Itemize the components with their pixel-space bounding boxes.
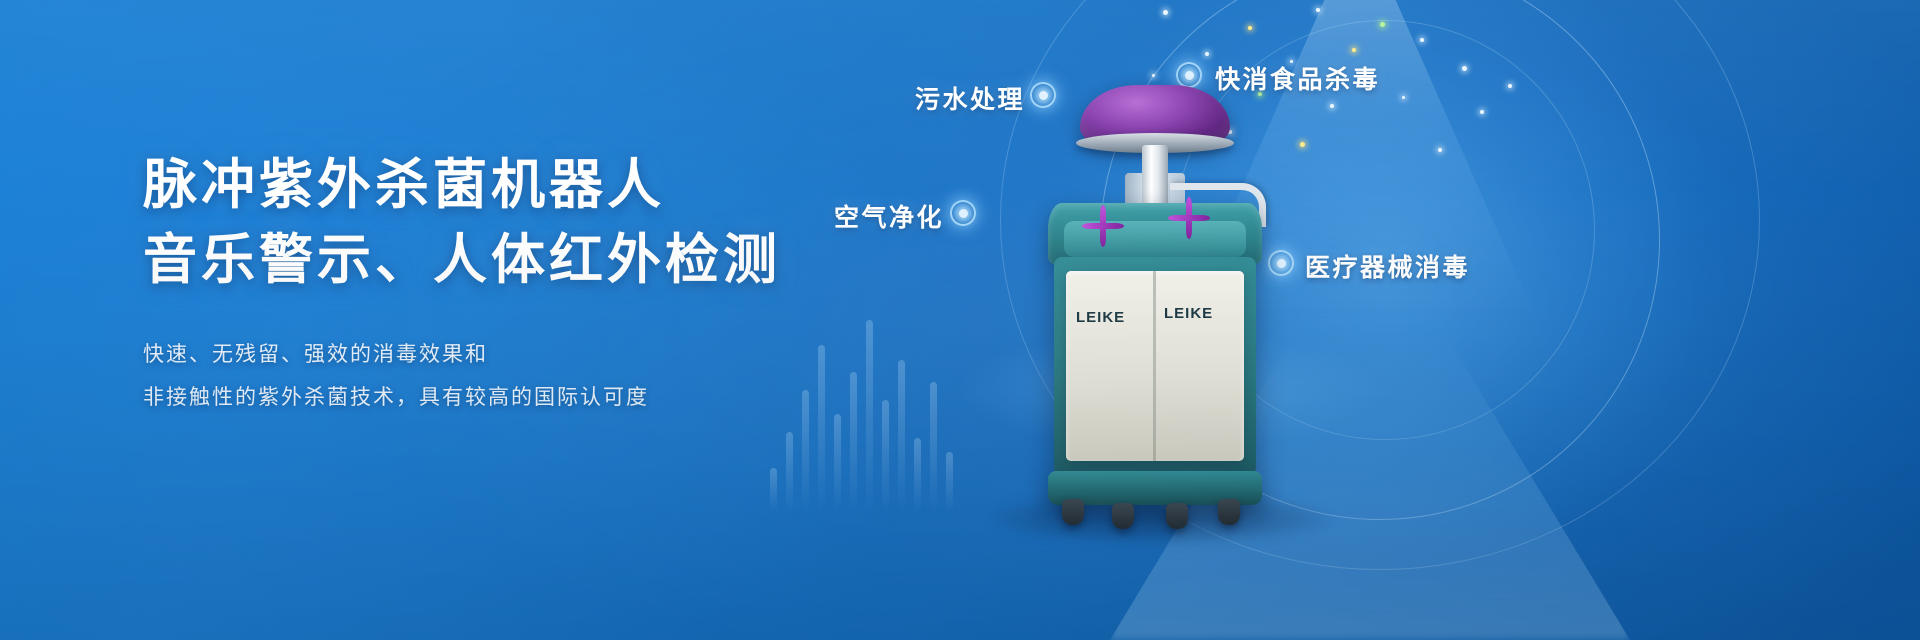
robot-panel-divider [1153,271,1156,461]
sparkle-particle [1205,52,1209,56]
feature-node-air-purification-icon[interactable] [950,200,976,226]
feature-label-wastewater-treatment: 污水处理 [915,80,1025,116]
sparkle-particle [1438,148,1442,152]
brand-logo-right: LEIKE [1164,305,1213,322]
sparkle-particle [1402,96,1405,99]
sparkle-particle [1316,8,1320,12]
sparkle-particle [1330,104,1334,108]
feature-label-air-purification: 空气净化 [834,198,944,234]
promo-banner: 脉冲紫外杀菌机器人 音乐警示、人体红外检测 快速、无残留、强效的消毒效果和 非接… [0,0,1920,640]
uv-disinfection-robot-illustration: LEIKE LEIKE [1020,85,1290,505]
sparkle-particle [1420,38,1424,42]
sparkle-particle [1300,142,1305,147]
sparkle-particle [1380,22,1385,27]
sparkle-particle [1352,48,1356,52]
headline-secondary: 音乐警示、人体红外检测 [143,225,863,296]
uv-lamp-tube [1142,145,1168,211]
banner-description: 快速、无残留、强效的消毒效果和 非接触性的紫外杀菌技术，具有较高的国际认可度 [143,333,863,419]
sparkle-star-left-icon [1082,205,1124,247]
sparkle-particle [1152,74,1155,77]
sparkle-particle [1508,84,1512,88]
feature-label-medical-device-disinfection: 医疗器械消毒 [1305,248,1470,284]
description-line-1: 快速、无残留、强效的消毒效果和 [143,333,863,376]
banner-copy-block: 脉冲紫外杀菌机器人 音乐警示、人体红外检测 快速、无残留、强效的消毒效果和 非接… [143,150,863,419]
caster-wheel [1166,503,1188,529]
brand-logo-left: LEIKE [1076,309,1125,326]
caster-wheel [1062,499,1084,525]
headline-primary: 脉冲紫外杀菌机器人 [143,150,863,221]
sparkle-star-right-icon [1168,197,1210,239]
caster-wheel [1112,503,1134,529]
caster-wheel [1218,499,1240,525]
sparkle-particle [1462,66,1467,71]
sparkle-particle [1248,26,1252,30]
sparkle-particle [1163,10,1168,15]
sparkle-particle [1480,110,1484,114]
description-line-2: 非接触性的紫外杀菌技术，具有较高的国际认可度 [143,376,863,419]
